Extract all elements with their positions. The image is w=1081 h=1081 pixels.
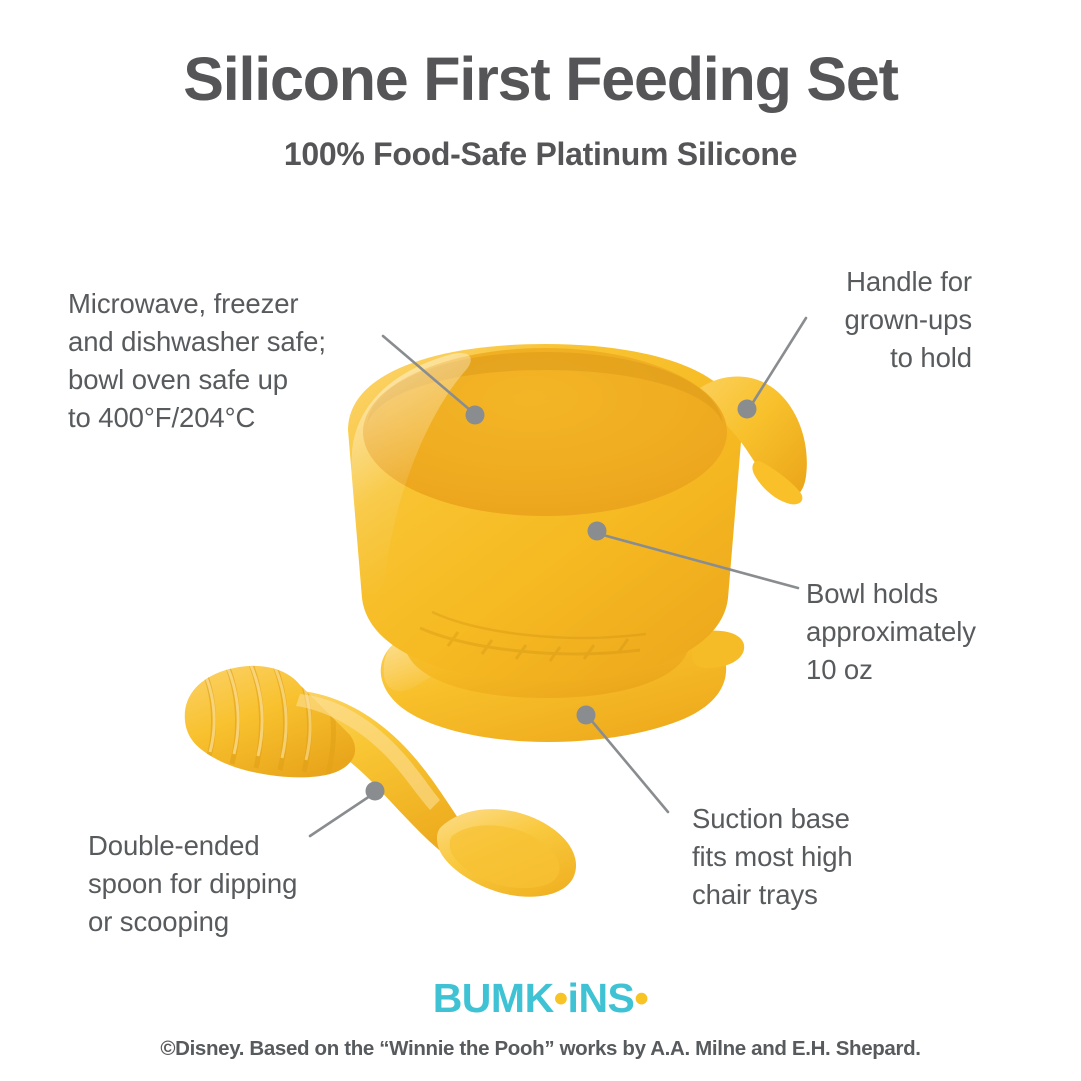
- silicone-bowl: [348, 344, 807, 742]
- callout-text-spoon: Double-ended spoon for dipping or scoopi…: [88, 827, 388, 941]
- spoon-dipper-end: [185, 657, 355, 777]
- callout-text-handle: Handle for grown-ups to hold: [742, 263, 972, 377]
- callout-text-suction: Suction base fits most high chair trays: [692, 800, 922, 914]
- callout-text-care: Microwave, freezer and dishwasher safe; …: [68, 285, 398, 437]
- copyright-notice: ©Disney. Based on the “Winnie the Pooh” …: [0, 1038, 1081, 1061]
- brand-text-part2: NS: [578, 975, 634, 1021]
- brand-text-part1: BUMK: [433, 975, 554, 1021]
- callout-text-capacity: Bowl holds approximately 10 oz: [806, 575, 1056, 689]
- brand-end-dot: •: [634, 975, 648, 1021]
- product-infographic: Silicone First Feeding Set 100% Food-Saf…: [0, 0, 1081, 1081]
- brand-text-i: i: [568, 975, 579, 1021]
- bumkins-logo: BUMK•iNS•: [0, 978, 1081, 1019]
- brand-letter-i-dot: •: [554, 975, 568, 1021]
